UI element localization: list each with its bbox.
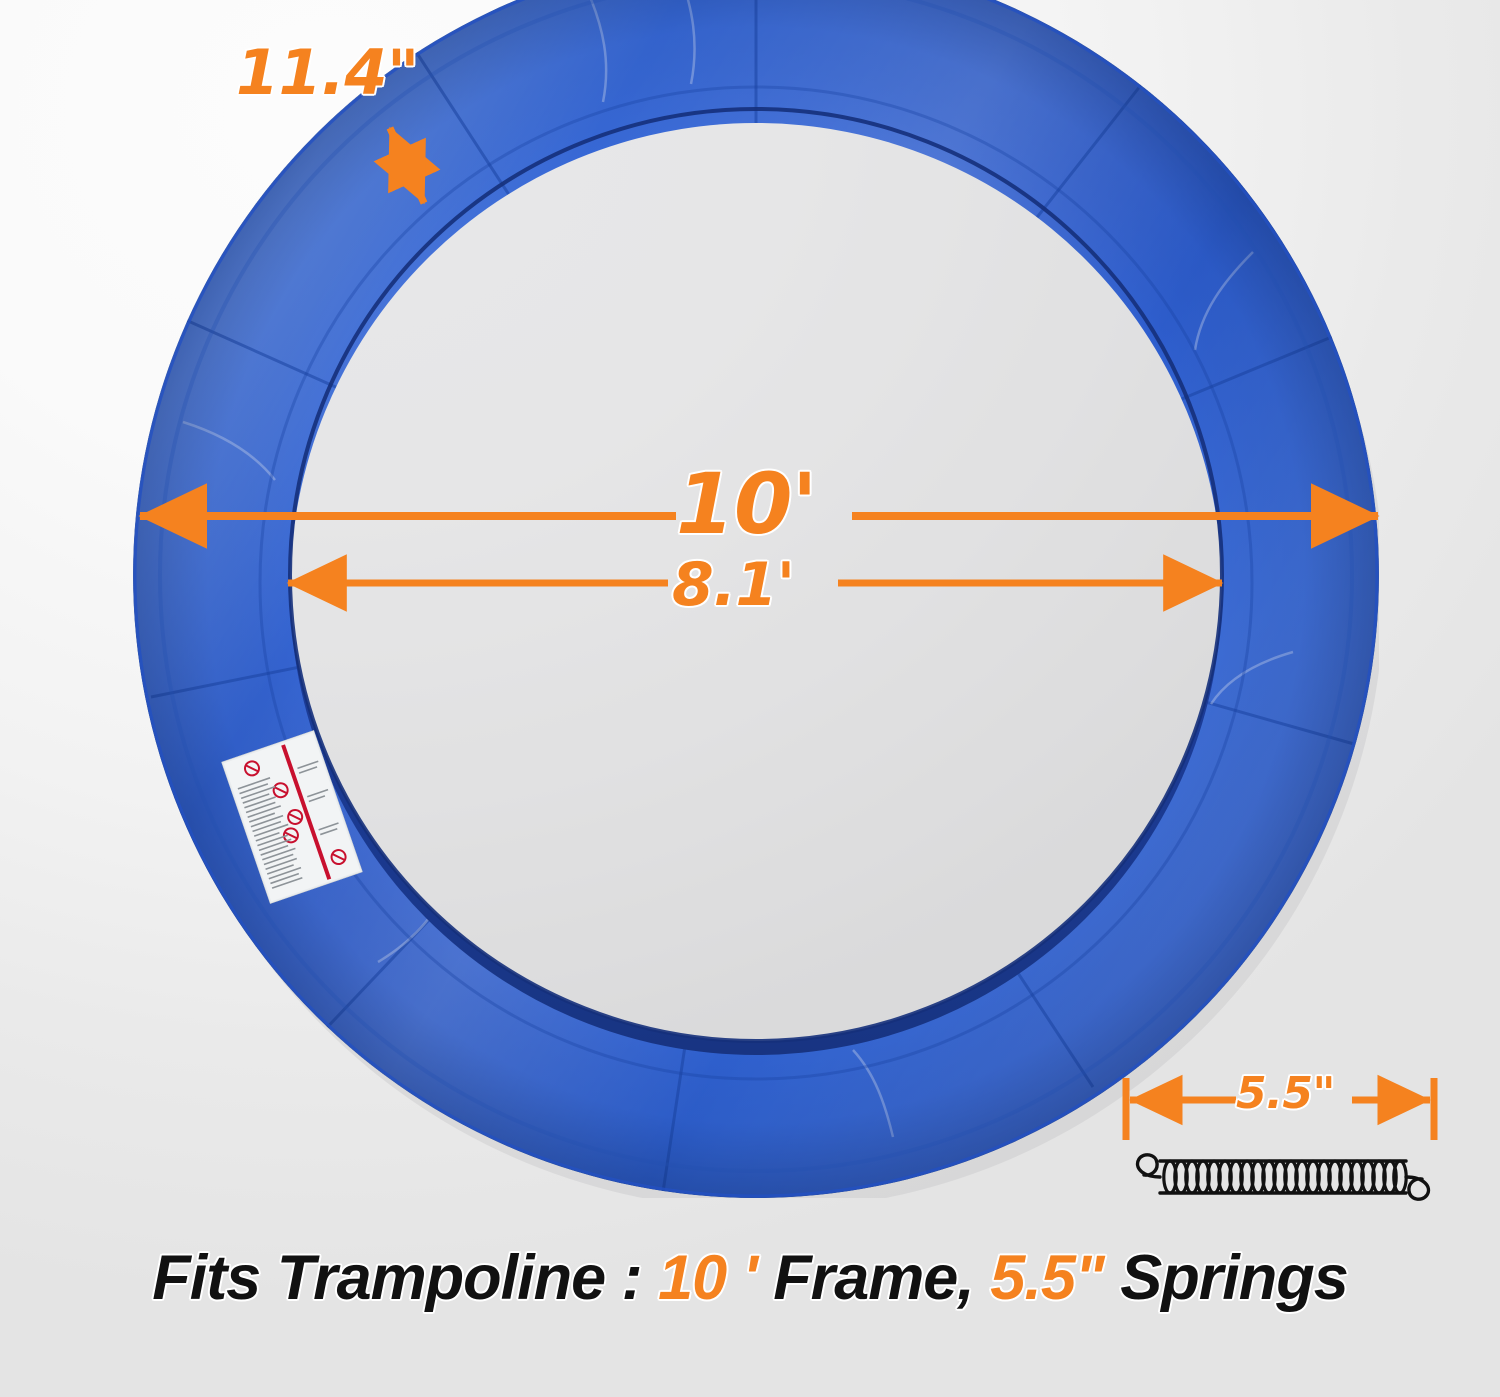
product-image-canvas: 11.4" 10' 8.1' 5.5"	[0, 0, 1500, 1397]
spring-length-label: 5.5"	[1236, 1068, 1335, 1119]
inner-diameter-label: 8.1'	[672, 550, 795, 620]
caption-middle: Frame,	[757, 1243, 991, 1313]
caption-spring-size: 5.5"	[990, 1243, 1103, 1313]
caption-frame-size: 10 '	[658, 1243, 757, 1313]
caption-prefix: Fits Trampoline :	[152, 1243, 658, 1313]
trampoline-spring-illustration	[1118, 1135, 1448, 1220]
fitment-caption: Fits Trampoline : 10 ' Frame, 5.5" Sprin…	[0, 1242, 1500, 1314]
pad-width-label: 11.4"	[236, 36, 419, 109]
outer-diameter-label: 10'	[676, 455, 817, 553]
caption-suffix: Springs	[1104, 1243, 1348, 1313]
